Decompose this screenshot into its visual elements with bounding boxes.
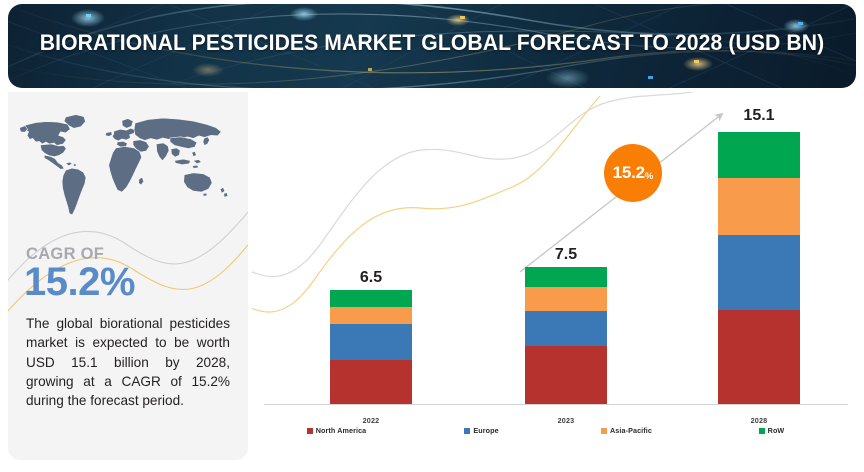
page-title: BIORATIONAL PESTICIDES MARKET GLOBAL FOR…: [33, 30, 830, 56]
legend-item-europe[interactable]: Europe: [409, 426, 554, 435]
legend-label-row: RoW: [768, 426, 785, 435]
bar-x-label-2022: 2022: [311, 416, 431, 425]
cagr-badge-unit: %: [645, 171, 653, 202]
bar-segment-europe-2023: [525, 311, 607, 346]
legend-swatch-north-america: [307, 428, 313, 434]
bar-x-label-2028: 2028: [699, 416, 819, 425]
infographic-root: BIORATIONAL PESTICIDES MARKET GLOBAL FOR…: [0, 0, 864, 472]
world-map-svg: [16, 106, 244, 230]
chart-area: 6.5 2022 7.5 2023 15.1: [252, 92, 856, 460]
legend-swatch-europe: [464, 428, 470, 434]
cagr-badge: 15.2 %: [604, 144, 662, 202]
bar-stack-2022[interactable]: [330, 290, 412, 404]
legend-label-europe: Europe: [473, 426, 498, 435]
bar-total-label-2022: 6.5: [311, 269, 431, 287]
legend-swatch-asia-pacific: [601, 428, 607, 434]
bar-segment-north-america-2028: [718, 310, 800, 404]
legend-label-asia-pacific: Asia-Pacific: [610, 426, 652, 435]
chart-baseline: [264, 404, 848, 405]
bar-x-label-2023: 2023: [506, 416, 626, 425]
sidebar-description: The global biorational pesticides market…: [26, 314, 230, 410]
legend-swatch-row: [759, 428, 765, 434]
legend-label-north-america: North America: [316, 426, 367, 435]
bar-stack-2028[interactable]: [718, 132, 800, 404]
chart-legend: North America Europe Asia-Pacific RoW: [264, 426, 844, 435]
legend-item-row[interactable]: RoW: [699, 426, 844, 435]
legend-item-asia-pacific[interactable]: Asia-Pacific: [554, 426, 699, 435]
bar-segment-row-2023: [525, 267, 607, 287]
bar-total-label-2023: 7.5: [506, 246, 626, 264]
bar-segment-north-america-2023: [525, 346, 607, 404]
bar-segment-row-2022: [330, 290, 412, 307]
bar-segment-row-2028: [718, 132, 800, 178]
bar-segment-asia-pacific-2022: [330, 307, 412, 324]
legend-item-north-america[interactable]: North America: [264, 426, 409, 435]
cagr-badge-value: 15.2: [613, 163, 645, 183]
bar-segment-europe-2028: [718, 235, 800, 310]
bar-segment-europe-2022: [330, 324, 412, 360]
sidebar-panel: CAGR OF 15.2% The global biorational pes…: [8, 92, 248, 460]
world-map-icon: [16, 106, 244, 230]
cagr-value: 15.2%: [24, 260, 135, 305]
bar-stack-2023[interactable]: [525, 267, 607, 404]
bar-segment-asia-pacific-2028: [718, 178, 800, 235]
bar-segment-asia-pacific-2023: [525, 287, 607, 311]
bar-segment-north-america-2022: [330, 360, 412, 404]
header-banner: BIORATIONAL PESTICIDES MARKET GLOBAL FOR…: [8, 4, 856, 88]
bar-total-label-2028: 15.1: [699, 107, 819, 125]
